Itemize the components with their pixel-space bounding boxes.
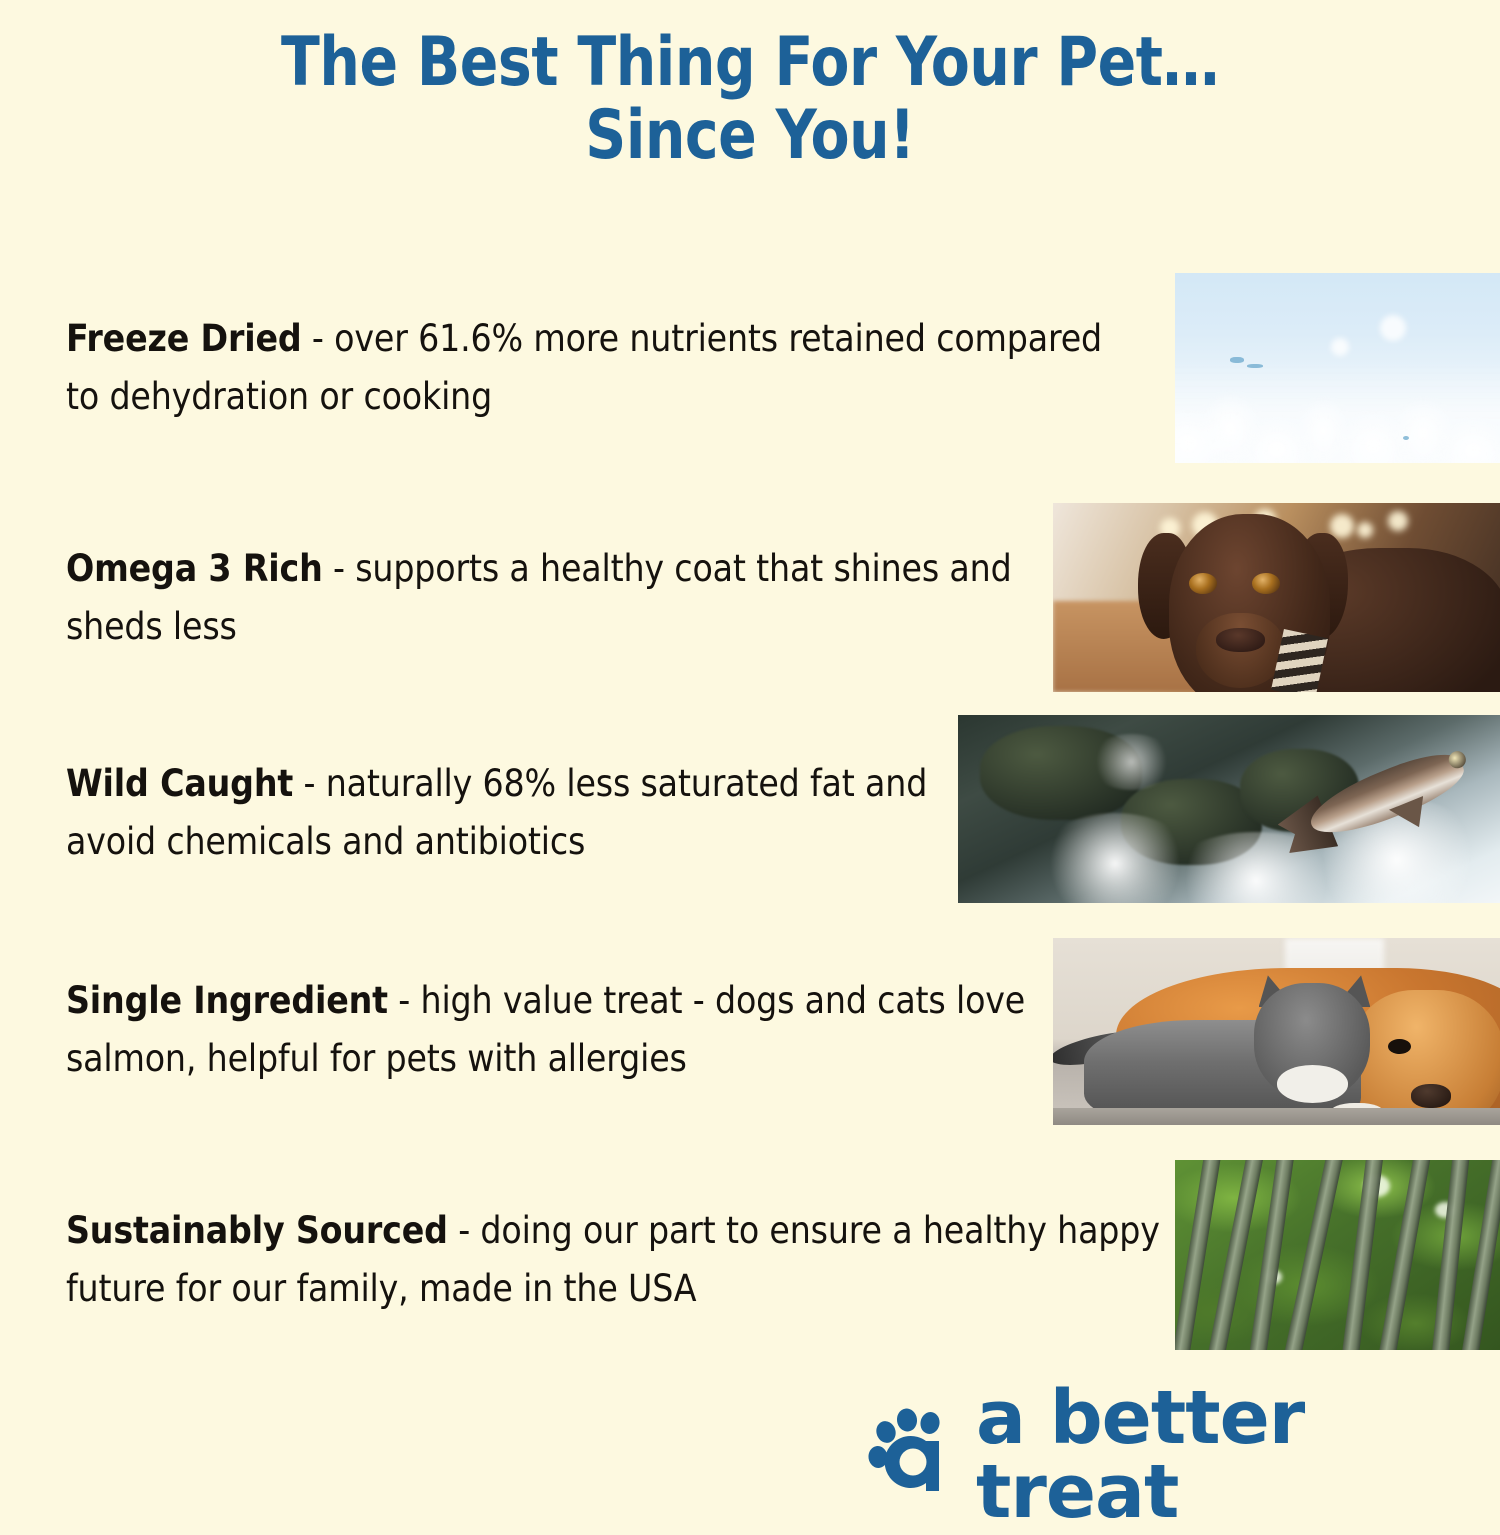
paw-print-icon — [866, 1405, 970, 1501]
cat-chin — [1277, 1065, 1349, 1102]
chocolate-labrador-photo — [1053, 503, 1500, 692]
logo-wordmark: a better treat — [976, 1381, 1466, 1529]
feature-title: Single Ingredient — [66, 979, 388, 1022]
ice-sparkle — [1230, 357, 1244, 363]
page-title: The Best Thing For Your Pet… Since You! — [53, 26, 1448, 173]
infographic-page: The Best Thing For Your Pet… Since You! … — [0, 0, 1500, 1500]
feature-title: Wild Caught — [66, 762, 293, 805]
golden-retriever-nose — [1411, 1084, 1451, 1108]
feature-title: Freeze Dried — [66, 317, 302, 360]
feature-freeze-dried: Freeze Dried - over 61.6% more nutrients… — [66, 310, 1128, 426]
cat-and-dog-photo — [1053, 938, 1500, 1125]
headline-line-1: The Best Thing For Your Pet… — [53, 26, 1448, 99]
ice-sparkle — [1247, 364, 1263, 368]
ice-bokeh — [1380, 315, 1406, 341]
brand-logo[interactable]: a better treat — [866, 1405, 1466, 1501]
feature-separator: - — [323, 547, 356, 590]
feature-title: Sustainably Sourced — [66, 1209, 448, 1252]
feature-separator: - — [388, 979, 421, 1022]
ice-frost-layer — [1175, 360, 1500, 463]
feature-sustainably-sourced: Sustainably Sourced - doing our part to … — [66, 1202, 1164, 1318]
ice-bokeh — [1331, 338, 1349, 356]
dog-eye-left — [1189, 573, 1217, 594]
ice-crystals-photo — [1175, 273, 1500, 463]
pets-floor — [1053, 1108, 1500, 1125]
forest-canopy-photo — [1175, 1160, 1500, 1350]
feature-title: Omega 3 Rich — [66, 547, 323, 590]
feature-wild-caught: Wild Caught - naturally 68% less saturat… — [66, 755, 993, 871]
feature-separator: - — [448, 1209, 481, 1252]
feature-omega-3-rich: Omega 3 Rich - supports a healthy coat t… — [66, 540, 1020, 656]
dog-eye-right — [1252, 573, 1280, 594]
feature-separator: - — [302, 317, 335, 360]
leaping-salmon-photo — [958, 715, 1500, 903]
dog-nose — [1216, 628, 1265, 653]
golden-retriever-eye — [1388, 1039, 1410, 1054]
feature-single-ingredient: Single Ingredient - high value treat - d… — [66, 972, 1047, 1088]
feature-separator: - — [293, 762, 326, 805]
headline-line-2: Since You! — [53, 99, 1448, 172]
salmon-foam — [1088, 734, 1175, 790]
